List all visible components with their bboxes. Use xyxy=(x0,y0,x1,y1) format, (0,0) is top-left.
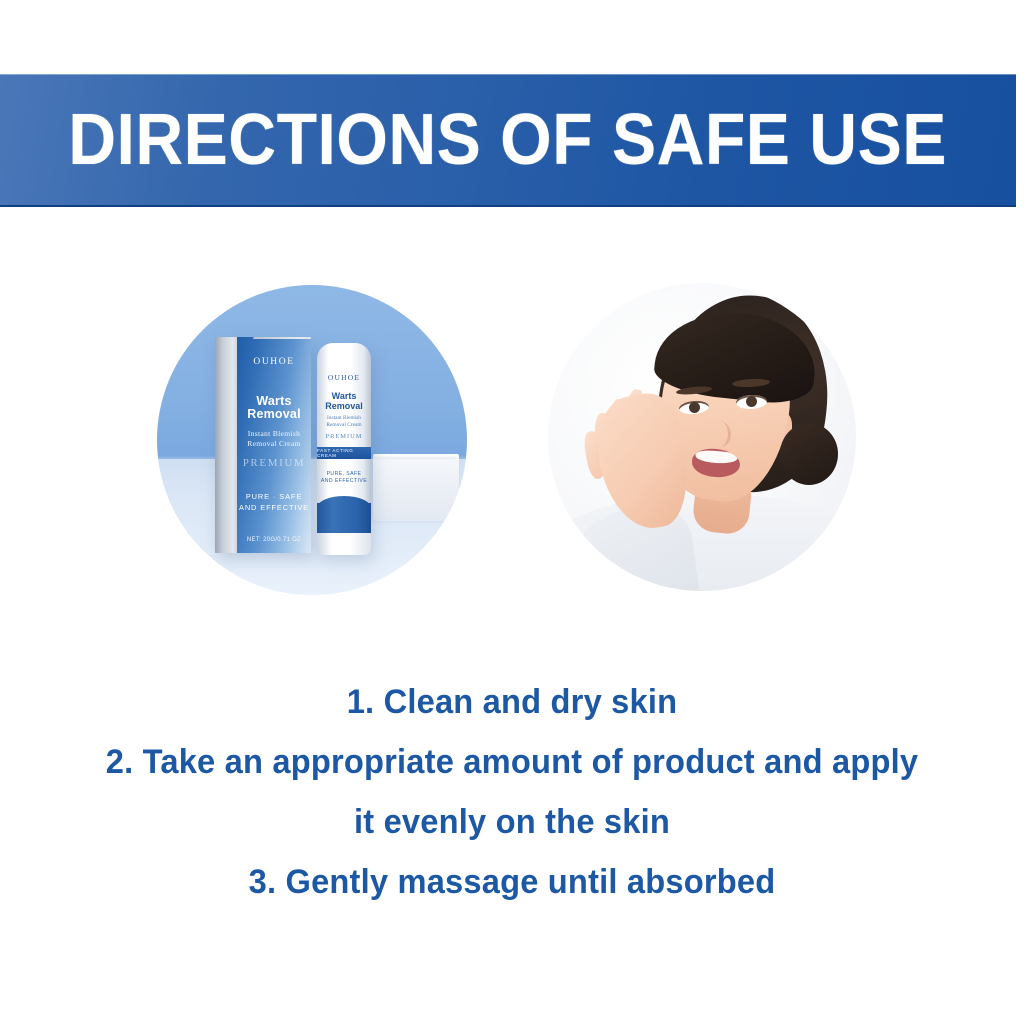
product-podium xyxy=(373,459,459,521)
box-claim-line1: PURE · SAFE xyxy=(237,492,311,503)
tube-accent-band: FAST ACTING CREAM xyxy=(317,447,371,459)
box-subtitle-line1: Instant Blemish xyxy=(237,429,311,439)
product-box: OUHOE Warts Removal Instant Blemish Remo… xyxy=(215,337,311,553)
header-banner: DIRECTIONS OF SAFE USE xyxy=(0,74,1016,207)
instruction-step-2-continued: it evenly on the skin xyxy=(20,792,1003,852)
tube-subtitle-line1: Instant Blemish xyxy=(317,415,371,422)
box-claim-line2: AND EFFECTIVE xyxy=(237,503,311,514)
instruction-step-2: 2. Take an appropriate amount of product… xyxy=(20,732,1003,792)
product-box-top-flap xyxy=(253,337,311,339)
tube-band-text: FAST ACTING CREAM xyxy=(317,448,371,458)
tube-claim-line2: AND EFFECTIVE xyxy=(317,478,371,485)
instructions-list: 1. Clean and dry skin 2. Take an appropr… xyxy=(0,672,1024,912)
product-image-circle: OUHOE Warts Removal Instant Blemish Remo… xyxy=(157,285,467,595)
tube-product-name-line1: Warts xyxy=(317,391,371,401)
box-tier-label: PREMIUM xyxy=(237,457,311,469)
tube-claim-line1: PURE, SAFE xyxy=(317,471,371,478)
model-image-circle xyxy=(548,283,856,591)
tube-brand-label: OUHOE xyxy=(317,373,371,382)
tube-subtitle: Instant Blemish Removal Cream xyxy=(317,415,371,428)
model-pupil-left xyxy=(689,402,700,413)
box-brand-label: OUHOE xyxy=(237,357,311,367)
model-pupil-right xyxy=(746,396,757,407)
tube-product-name-line2: Removal xyxy=(317,401,371,411)
tube-claim: PURE, SAFE AND EFFECTIVE xyxy=(317,471,371,485)
tube-subtitle-line2: Removal Cream xyxy=(317,422,371,429)
product-tube: OUHOE Warts Removal Instant Blemish Remo… xyxy=(317,343,371,555)
product-box-front-panel: OUHOE Warts Removal Instant Blemish Remo… xyxy=(237,337,311,553)
product-box-side-panel xyxy=(215,337,237,553)
instruction-step-1: 1. Clean and dry skin xyxy=(20,672,1003,732)
tube-product-name: Warts Removal xyxy=(317,391,371,411)
tube-cap xyxy=(317,503,371,533)
box-subtitle: Instant Blemish Removal Cream xyxy=(237,429,311,448)
box-net-weight: NET: 20G/0.71 OZ xyxy=(237,537,311,543)
model-hair-bun xyxy=(780,423,838,485)
box-subtitle-line2: Removal Cream xyxy=(237,439,311,449)
box-claim: PURE · SAFE AND EFFECTIVE xyxy=(237,492,311,513)
tube-foot xyxy=(317,533,371,555)
tube-tier-label: PREMIUM xyxy=(317,433,371,440)
media-row: OUHOE Warts Removal Instant Blemish Remo… xyxy=(0,283,1024,598)
page-title: DIRECTIONS OF SAFE USE xyxy=(69,104,948,176)
instruction-step-3: 3. Gently massage until absorbed xyxy=(20,852,1003,912)
box-product-name: Warts Removal xyxy=(237,395,311,421)
box-product-name-line2: Removal xyxy=(237,408,311,421)
